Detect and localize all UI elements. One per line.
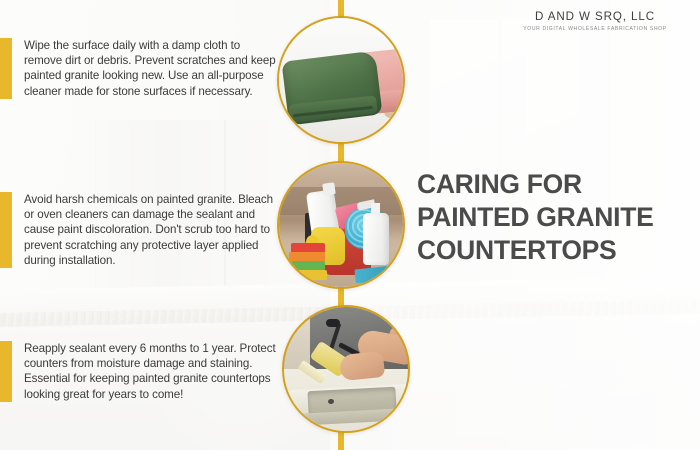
page-title-line-2: PAINTED GRANITE xyxy=(417,201,693,234)
tip-1-block: Wipe the surface daily with a damp cloth… xyxy=(0,38,276,99)
caulk-gun-knob xyxy=(326,319,340,327)
worker-hand-lower xyxy=(339,351,385,381)
microfiber-cloths-image xyxy=(279,18,403,142)
page-title-line-1: CARING FOR xyxy=(417,168,693,201)
infographic-canvas: Wipe the surface daily with a damp cloth… xyxy=(0,0,700,450)
page-title: CARING FOR PAINTED GRANITE COUNTERTOPS xyxy=(417,168,693,267)
tip-2-text: Avoid harsh chemicals on painted granite… xyxy=(12,192,282,268)
tip-3-block: Reapply sealant every 6 months to 1 year… xyxy=(0,341,280,402)
tip-2-block: Avoid harsh chemicals on painted granite… xyxy=(0,192,282,268)
sponge-yellow xyxy=(293,270,327,280)
tip-2-photo-circle xyxy=(277,161,405,289)
tip-1-text: Wipe the surface daily with a damp cloth… xyxy=(12,38,276,99)
tip-3-text: Reapply sealant every 6 months to 1 year… xyxy=(12,341,280,402)
tip-2-accent-bar xyxy=(0,192,12,268)
cleaning-supplies-image xyxy=(279,163,403,287)
company-tagline: YOUR DIGITAL WHOLESALE FABRICATION SHOP xyxy=(500,26,690,32)
tip-3-accent-bar xyxy=(0,341,12,402)
spray-bottle xyxy=(363,213,389,265)
detergent-bottle-cap xyxy=(322,182,336,196)
company-logo: D AND W SRQ, LLC YOUR DIGITAL WHOLESALE … xyxy=(500,10,690,32)
tip-1-accent-bar xyxy=(0,38,12,99)
page-title-line-3: COUNTERTOPS xyxy=(417,234,693,267)
tip-3-photo-circle xyxy=(282,305,410,433)
tip-1-photo-circle xyxy=(277,16,405,144)
company-name: D AND W SRQ, LLC xyxy=(500,10,690,23)
sealant-application-image xyxy=(284,307,408,431)
